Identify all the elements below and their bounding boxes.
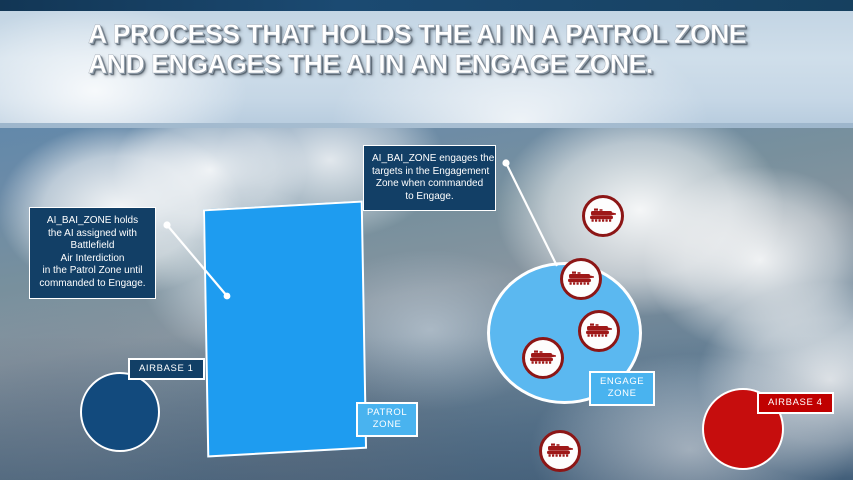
callout-left-line-1: AI_BAI_ZONE holds: [38, 215, 147, 228]
patrol-zone-label-line-2: ZONE: [367, 419, 407, 431]
target-marker-1[interactable]: [582, 195, 624, 237]
engage-zone-label[interactable]: ENGAGE ZONE: [589, 371, 655, 406]
airbase-1-label-text: AIRBASE 1: [139, 363, 194, 375]
callout-top-line-1: AI_BAI_ZONE engages the: [372, 153, 487, 166]
target-marker-4[interactable]: [522, 337, 564, 379]
airbase-1-label[interactable]: AIRBASE 1: [128, 358, 205, 380]
callout-top-line-4: to Engage.: [372, 191, 487, 204]
ai-bai-zone-hold-callout[interactable]: AI_BAI_ZONE holds the AI assigned with B…: [29, 207, 156, 299]
callout-left-line-3: Battlefield: [38, 240, 147, 253]
slide-canvas: A PROCESS THAT HOLDS THE AI IN A PATROL …: [0, 0, 853, 480]
airbase-4-label-text: AIRBASE 4: [768, 397, 823, 409]
ai-bai-zone-engage-callout[interactable]: AI_BAI_ZONE engages the targets in the E…: [363, 145, 496, 211]
airbase-1-marker[interactable]: [80, 372, 160, 452]
patrol-zone-label-line-1: PATROL: [367, 407, 407, 419]
tank-icon: [585, 322, 613, 340]
target-marker-2[interactable]: [560, 258, 602, 300]
callout-left-line-4: Air Interdiction: [38, 253, 147, 266]
engage-zone-label-line-1: ENGAGE: [600, 376, 644, 388]
tank-icon: [567, 270, 595, 288]
callout-top-line-3: Zone when commanded: [372, 178, 487, 191]
callout-left-line-2: the AI assigned with: [38, 228, 147, 241]
target-marker-5[interactable]: [539, 430, 581, 472]
patrol-zone-label[interactable]: PATROL ZONE: [356, 402, 418, 437]
airbase-4-label[interactable]: AIRBASE 4: [757, 392, 834, 414]
callout-left-line-5: in the Patrol Zone until: [38, 265, 147, 278]
tank-icon: [589, 207, 617, 225]
callout-top-line-2: targets in the Engagement: [372, 166, 487, 179]
engage-zone-label-line-2: ZONE: [600, 388, 644, 400]
tank-icon: [546, 442, 574, 460]
target-marker-3[interactable]: [578, 310, 620, 352]
tank-icon: [529, 349, 557, 367]
callout-left-line-6: commanded to Engage.: [38, 278, 147, 291]
patrol-zone-area[interactable]: [203, 200, 367, 457]
